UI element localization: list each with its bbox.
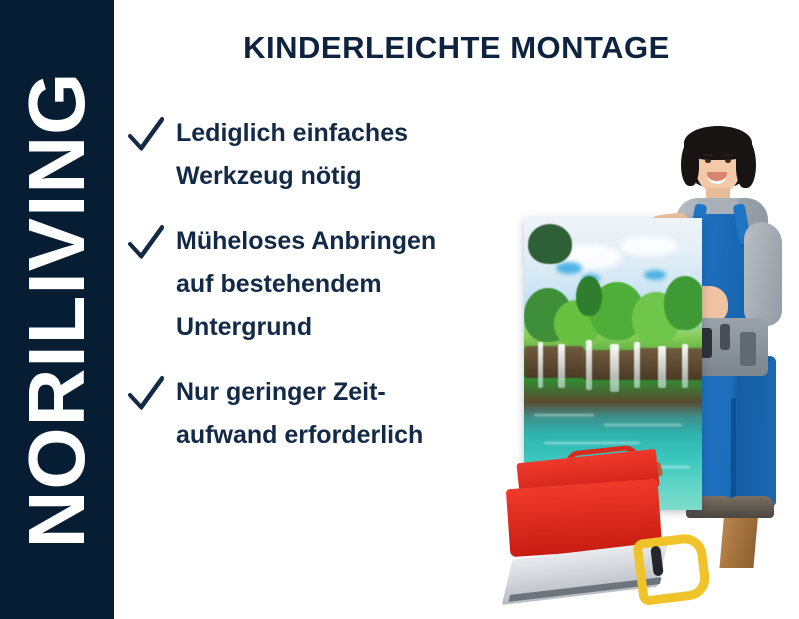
feature-text: Nur geringer Zeit- aufwand erforderlich [176,371,526,457]
brand-name: NORILIVING [17,71,97,548]
panel-ripple [604,424,682,426]
page-title: KINDERLEICHTE MONTAGE [114,30,799,66]
belt-tool [720,324,730,350]
feature-text: Lediglich einfaches Werkzeug nötig [176,112,526,198]
tool-belt [692,318,768,376]
feature-line: Werkzeug nötig [176,155,526,198]
panel-tree [576,276,602,316]
panel-sky-patch [644,270,666,280]
panel-waterfall [682,344,688,388]
panel-waterfall [558,344,565,388]
panel-cloud [620,236,678,256]
feature-line: aufwand erforderlich [176,414,526,457]
panel-rock [636,348,702,380]
feature-text: Müheloses Anbringen auf bestehendem Unte… [176,220,526,349]
feature-list: Lediglich einfaches Werkzeug nötig Mühel… [126,112,526,479]
feature-line: Lediglich einfaches [176,112,526,155]
belt-tool [740,332,756,366]
check-icon [126,373,166,415]
panel-waterfall [610,344,619,392]
list-item: Lediglich einfaches Werkzeug nötig [126,112,526,198]
worker-arm-right [744,222,782,326]
panel-waterfall [538,342,543,388]
check-icon [126,114,166,156]
worker-leg-split [731,398,736,506]
worker-eye-left [705,159,711,163]
panel-waterfall [634,342,640,388]
saw-handle [632,532,712,606]
panel-waterfall [658,346,666,388]
feature-line: Müheloses Anbringen [176,220,526,263]
panel-ripple [534,414,594,416]
panel-sky-patch [556,262,582,274]
worker-hair-right [736,138,756,188]
panel-tree [664,276,702,330]
promo-banner: NORILIVING KINDERLEICHTE MONTAGE Ledigli… [0,0,799,619]
product-photo [490,118,799,619]
worker-shoe-right [726,496,774,518]
worker-eye-right [725,159,731,163]
worker-hair-left [681,140,699,186]
check-icon [126,222,166,264]
worker-eyebrow-right [723,154,733,156]
panel-waterfall [586,340,592,390]
list-item: Nur geringer Zeit- aufwand erforderlich [126,371,526,457]
feature-line: auf bestehendem [176,263,526,306]
feature-line: Untergrund [176,306,526,349]
feature-line: Nur geringer Zeit- [176,371,526,414]
brand-sidebar: NORILIVING [0,0,114,619]
panel-tree [528,224,572,264]
panel-rock [524,346,584,378]
list-item: Müheloses Anbringen auf bestehendem Unte… [126,220,526,349]
hand-saw [510,528,700,612]
worker-eyebrow-left [703,154,713,156]
panel-ripple [544,442,640,444]
